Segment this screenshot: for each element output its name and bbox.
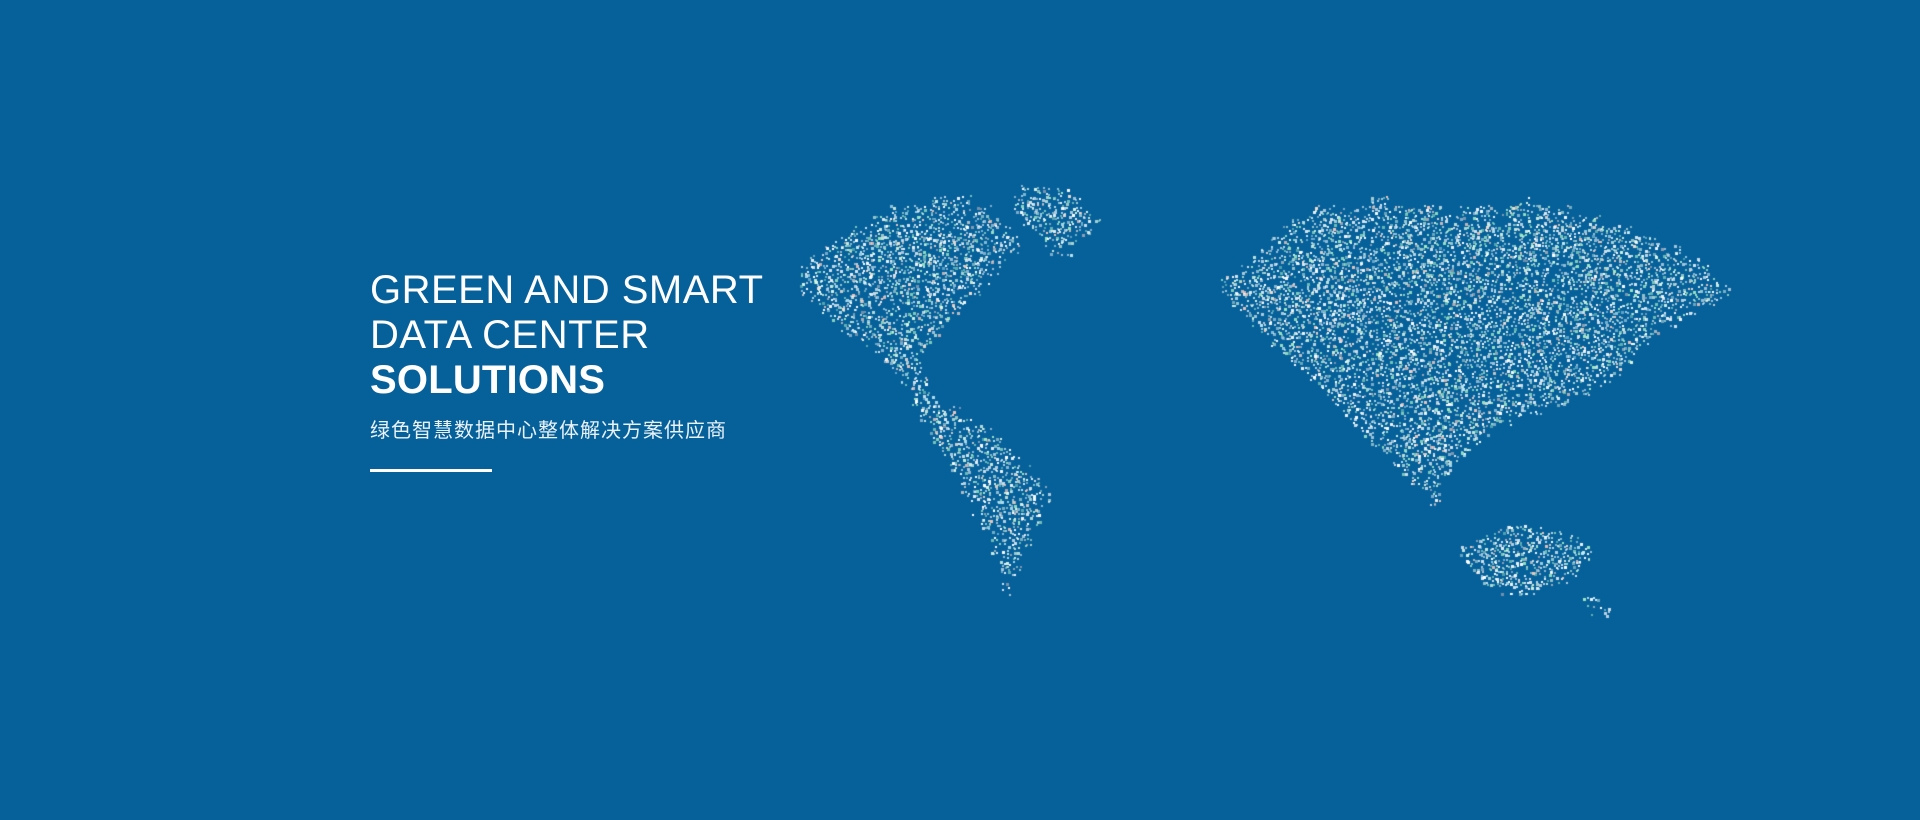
headline-line-1: GREEN AND SMART <box>370 268 930 313</box>
hero-banner: GREEN AND SMART DATA CENTER SOLUTIONS 绿色… <box>0 0 1920 820</box>
accent-rule <box>370 469 492 472</box>
hero-text-block: GREEN AND SMART DATA CENTER SOLUTIONS 绿色… <box>370 268 930 472</box>
headline-line-2: DATA CENTER <box>370 313 930 358</box>
headline-line-3: SOLUTIONS <box>370 358 930 403</box>
hero-subtitle: 绿色智慧数据中心整体解决方案供应商 <box>370 417 930 445</box>
